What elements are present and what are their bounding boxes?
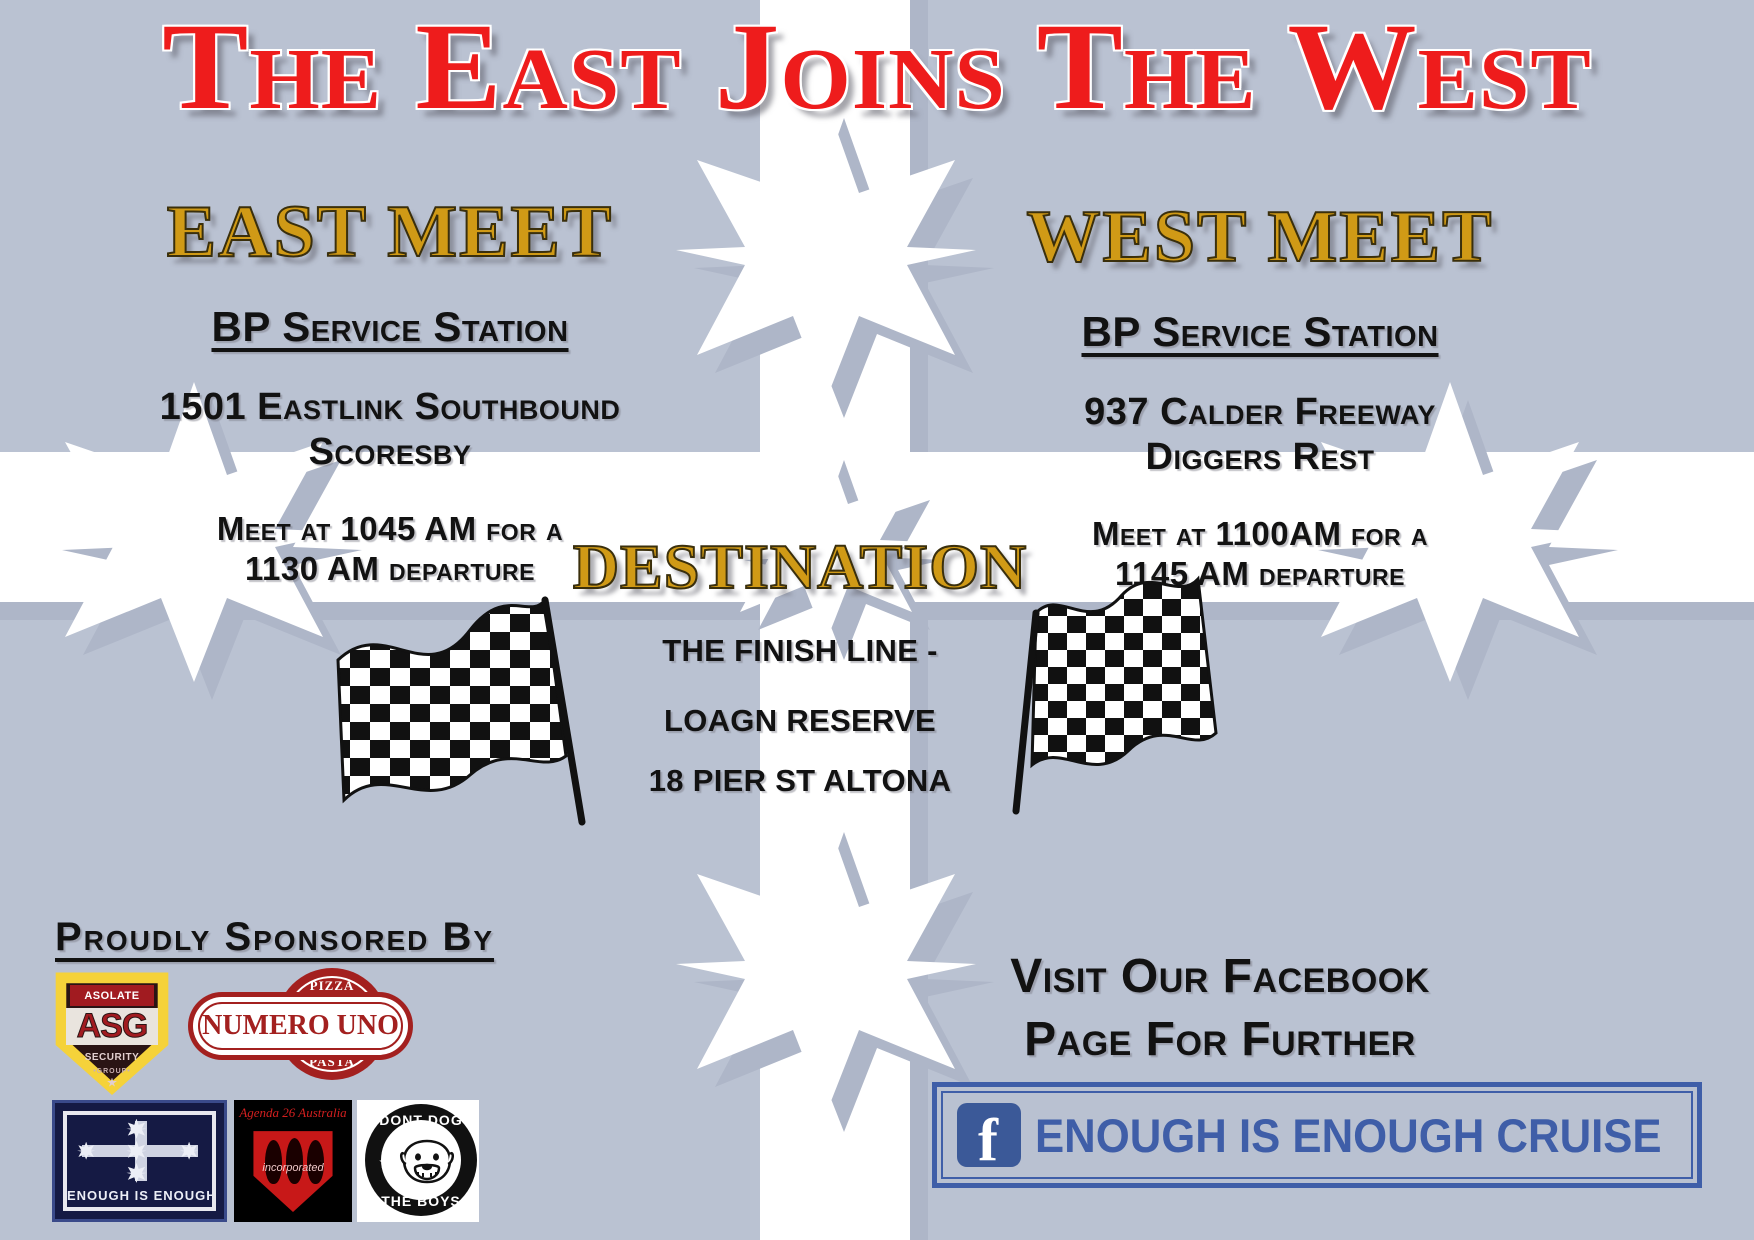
facebook-callout: Visit Our Facebook Page For Further	[900, 945, 1540, 1072]
bulldog-icon	[398, 1138, 456, 1190]
west-address-line-2: Diggers Rest	[930, 435, 1590, 480]
dont-dog-bottom-label: THE BOYS	[365, 1193, 477, 1209]
west-meet-heading: WEST MEET	[930, 200, 1590, 274]
sponsors-heading: Proudly Sponsored By	[55, 915, 494, 960]
destination-line-3: 18 PIER ST ALTONA	[540, 763, 1060, 799]
checkered-flag-right	[1010, 565, 1250, 825]
asg-bottom-label: SECURITY	[74, 1049, 151, 1067]
agenda-26-incorporated-label: incorporated	[234, 1162, 352, 1174]
asg-top-label: ASOLATE	[70, 985, 154, 1006]
east-address-line-1: 1501 Eastlink Southbound	[60, 385, 720, 430]
facebook-page-name: ENOUGH IS ENOUGH CRUISE	[1035, 1108, 1662, 1163]
numero-uno-name: NUMERO UNO	[202, 1010, 399, 1042]
facebook-f-glyph: f	[978, 1110, 998, 1170]
eureka-label: ENOUGH IS ENOUGH	[67, 1188, 212, 1203]
west-address-line-1: 937 Calder Freeway	[930, 390, 1590, 435]
east-venue: BP Service Station	[60, 303, 720, 351]
sponsor-logo-numero-uno: PIZZA PASTA NUMERO UNO	[188, 982, 413, 1072]
agenda-26-title: Agenda 26 Australia	[234, 1105, 352, 1121]
facebook-callout-line-2: Page For Further	[900, 1008, 1540, 1071]
destination-line-1: THE FINISH LINE -	[540, 633, 1060, 669]
sponsor-logo-dont-dog-the-boys: DONT DOG THE BOYS	[357, 1100, 479, 1222]
asg-group-label: •GROUP•	[84, 1065, 140, 1078]
poster-headline: The East Joins The West	[0, 2, 1754, 132]
eureka-flag-panel: ENOUGH IS ENOUGH	[63, 1111, 216, 1211]
dont-dog-top-label: DONT DOG	[365, 1112, 477, 1128]
east-meet-heading: EAST MEET	[60, 195, 720, 269]
numero-uno-pill-white: NUMERO UNO	[193, 997, 408, 1055]
facebook-page-bar[interactable]: f ENOUGH IS ENOUGH CRUISE	[932, 1082, 1702, 1188]
destination-block: DESTINATION THE FINISH LINE - LOAGN RESE…	[540, 535, 1060, 799]
poster: The East Joins The West EAST MEET BP Ser…	[0, 0, 1754, 1240]
sponsor-logo-enough-is-enough: ENOUGH IS ENOUGH	[52, 1100, 227, 1222]
destination-heading: DESTINATION	[540, 535, 1060, 599]
facebook-f-icon[interactable]: f	[957, 1103, 1021, 1167]
facebook-callout-line-1: Visit Our Facebook	[900, 945, 1540, 1008]
facebook-page-bar-inner: f ENOUGH IS ENOUGH CRUISE	[941, 1091, 1693, 1179]
destination-line-2: LOAGN RESERVE	[540, 703, 1060, 739]
agenda-26-figure-2	[286, 1138, 303, 1184]
numero-uno-pill: NUMERO UNO	[188, 992, 413, 1060]
west-venue: BP Service Station	[930, 308, 1590, 356]
asg-main-label: ASG	[66, 1008, 158, 1046]
checkered-flag-left	[330, 560, 590, 830]
east-address-line-2: Scoresby	[60, 430, 720, 475]
dont-dog-badge: DONT DOG THE BOYS	[365, 1104, 477, 1216]
numero-uno-pill-ring: NUMERO UNO	[198, 1002, 403, 1050]
sponsor-logo-asg: ASOLATE ASG SECURITY •GROUP•	[48, 970, 176, 1095]
sponsor-logo-agenda-26: Agenda 26 Australia incorporated	[234, 1100, 352, 1222]
